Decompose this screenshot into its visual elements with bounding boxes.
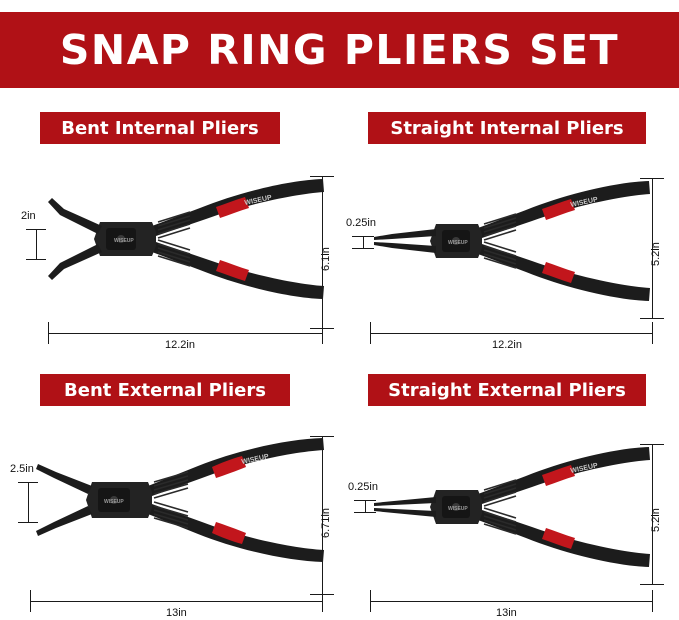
- length-line: [370, 601, 653, 602]
- panel-bent-internal: Bent Internal Pliers 6.1in 12.2in 2in: [0, 96, 339, 358]
- pliers-illustration: WISEUP WISEUP: [366, 176, 656, 306]
- length-dimension-label: 12.2in: [165, 339, 195, 351]
- product-grid: Bent Internal Pliers 6.1in 12.2in 2in: [0, 96, 679, 620]
- header-banner: SNAP RING PLIERS SET: [0, 12, 679, 88]
- svg-text:WISEUP: WISEUP: [448, 240, 468, 246]
- pliers-illustration: WISEUP WISEUP: [366, 442, 656, 572]
- panel-straight-external: Straight External Pliers 5.2in 13in 0.25…: [340, 358, 679, 620]
- tip-dimension-label: 2in: [21, 210, 36, 222]
- panel-bent-external: Bent External Pliers 6.71in 13in 2.5in: [0, 358, 339, 620]
- svg-text:WISEUP: WISEUP: [104, 499, 124, 505]
- length-line: [48, 333, 323, 334]
- pliers-illustration: WISEUP WISEUP: [40, 174, 330, 304]
- length-dimension-label: 12.2in: [492, 339, 522, 351]
- tip-line: [36, 229, 37, 259]
- page-title: SNAP RING PLIERS SET: [60, 26, 619, 74]
- panel-label: Straight Internal Pliers: [368, 112, 646, 144]
- panel-label: Bent Internal Pliers: [40, 112, 280, 144]
- pliers-illustration: WISEUP WISEUP: [30, 430, 330, 570]
- height-cap-bottom: [640, 318, 664, 319]
- length-dimension-label: 13in: [166, 607, 187, 619]
- length-dimension-label: 13in: [496, 607, 517, 619]
- tip-line: [363, 236, 364, 248]
- length-line: [30, 601, 323, 602]
- height-cap-bottom: [640, 584, 664, 585]
- panel-label: Straight External Pliers: [368, 374, 646, 406]
- tip-line: [28, 482, 29, 522]
- panel-label: Bent External Pliers: [40, 374, 290, 406]
- panel-straight-internal: Straight Internal Pliers 5.2in 12.2in 0.…: [340, 96, 679, 358]
- svg-text:WISEUP: WISEUP: [114, 238, 134, 244]
- svg-text:WISEUP: WISEUP: [448, 506, 468, 512]
- length-line: [370, 333, 653, 334]
